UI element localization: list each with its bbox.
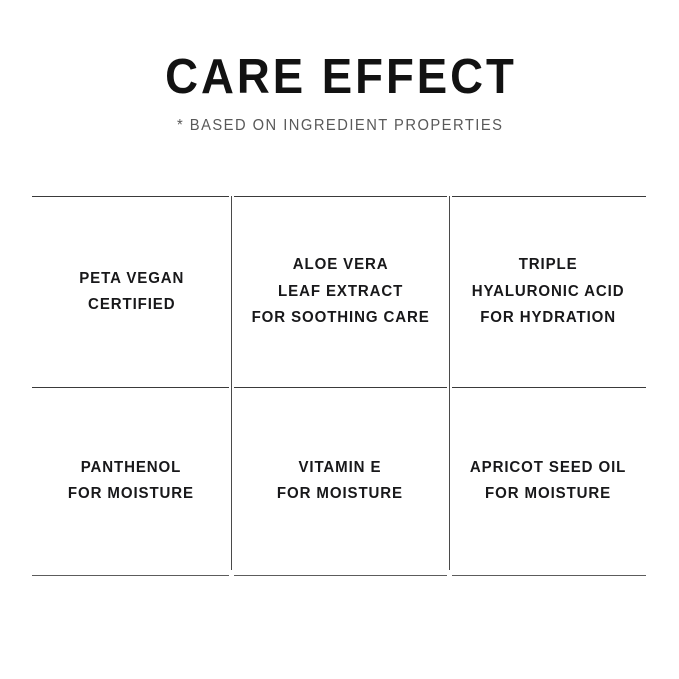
table-cell-apricot-seed-oil: APRICOT SEED OIL FOR MOISTURE [450,388,646,575]
table-cell-aloe-vera-leaf-extract: ALOE VERA LEAF EXTRACT FOR SOOTHING CARE [232,197,448,387]
table-cell-line: FOR MOISTURE [277,481,404,508]
table-cell-panthenol: PANTHENOL FOR MOISTURE [32,388,230,575]
table-cell-line: LEAF EXTRACT [250,279,429,306]
table-cell-line: APRICOT SEED OIL [469,455,626,482]
table-cell-line: CERTIFIED [78,292,184,319]
table-cell-text: TRIPLE HYALURONIC ACID FOR HYDRATION [471,252,625,332]
table-cell-triple-hyaluronic-acid: TRIPLE HYALURONIC ACID FOR HYDRATION [450,197,646,387]
table-cell-text: VITAMIN E FOR MOISTURE [277,455,404,508]
care-effect-infographic: CARE EFFECT * BASED ON INGREDIENT PROPER… [0,0,679,679]
table-cell-line: ALOE VERA [250,252,429,279]
table-cell-text: ALOE VERA LEAF EXTRACT FOR SOOTHING CARE [250,252,429,332]
table-cell-line: PANTHENOL [68,455,195,482]
table-cell-vitamin-e: VITAMIN E FOR MOISTURE [232,388,448,575]
page-title: CARE EFFECT [24,50,655,104]
table-cell-line: FOR MOISTURE [469,481,626,508]
table-cell-line: FOR HYDRATION [471,305,625,332]
table-cell-line: FOR SOOTHING CARE [250,305,429,332]
table-cell-line: FOR MOISTURE [68,481,195,508]
table-cells: PETA VEGAN CERTIFIED ALOE VERA LEAF EXTR… [32,196,646,576]
table-cell-text: PANTHENOL FOR MOISTURE [68,455,195,508]
table-cell-peta-vegan-certified: PETA VEGAN CERTIFIED [32,197,230,387]
table-cell-line: HYALURONIC ACID [471,279,625,306]
care-effect-table: PETA VEGAN CERTIFIED ALOE VERA LEAF EXTR… [32,196,646,576]
table-cell-text: APRICOT SEED OIL FOR MOISTURE [469,455,626,508]
table-cell-line: PETA VEGAN [78,266,184,293]
table-cell-line: TRIPLE [471,252,625,279]
table-cell-line: VITAMIN E [277,455,404,482]
page-subtitle-disclaimer: * BASED ON INGREDIENT PROPERTIES [17,117,662,135]
table-cell-text: PETA VEGAN CERTIFIED [78,266,184,319]
